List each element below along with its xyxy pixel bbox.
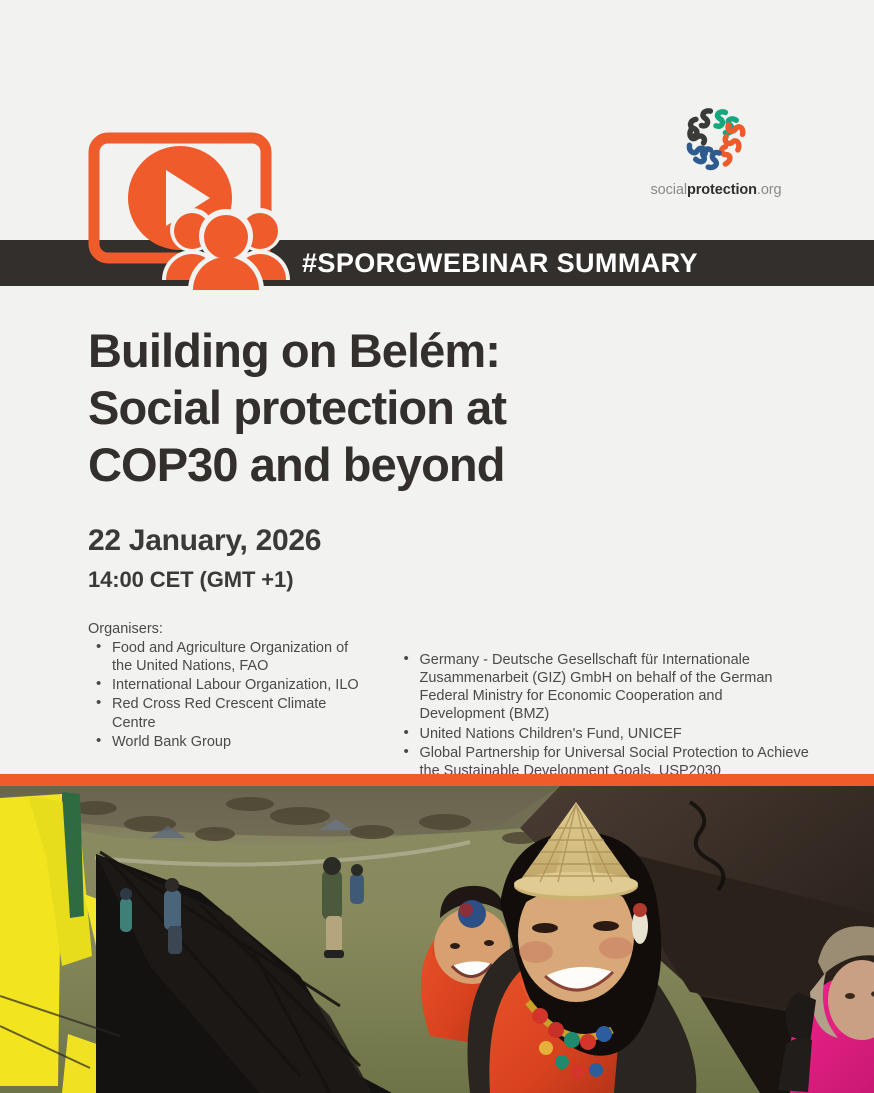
logo-word-org: .org <box>757 182 782 198</box>
logo-word-social: social <box>651 182 687 198</box>
socialprotection-org-logo[interactable]: socialprotection.org <box>636 100 796 198</box>
list-item: Red Cross Red Crescent Climate Centre <box>88 695 369 732</box>
organisers-list-left: Food and Agriculture Organization of the… <box>88 639 369 752</box>
event-time: 14:00 CET (GMT +1) <box>88 567 810 593</box>
socialprotection-wordmark: socialprotection.org <box>636 182 796 198</box>
header: socialprotection.org <box>0 0 874 240</box>
list-item: United Nations Children's Fund, UNICEF <box>395 725 810 743</box>
event-date: 22 January, 2026 <box>88 524 810 558</box>
socialprotection-pinwheel-mark <box>677 100 755 178</box>
webinar-play-people-icon <box>88 132 284 284</box>
page-title: Building on Belém: Social protection at … <box>88 323 810 494</box>
list-item: International Labour Organization, ILO <box>88 676 369 694</box>
band-title: #SPORGWEBINAR SUMMARY <box>302 248 698 279</box>
organisers-columns: Food and Agriculture Organization of the… <box>88 639 810 782</box>
organisers-list-right: Germany - Deutsche Gesellschaft für Inte… <box>395 651 810 781</box>
organisers-column-left: Food and Agriculture Organization of the… <box>88 639 369 782</box>
list-item: Food and Agriculture Organization of the… <box>88 639 369 676</box>
main-content: Building on Belém: Social protection at … <box>0 323 874 781</box>
flyer-page: socialprotection.org #SPORGWEBINAR SUMMA… <box>0 0 874 1093</box>
list-item: World Bank Group <box>88 733 369 751</box>
title-line-1: Building on Belém: <box>88 323 810 380</box>
title-line-2: Social protection at <box>88 380 810 437</box>
organisers-column-right: Germany - Deutsche Gesellschaft für Inte… <box>395 639 810 782</box>
logo-word-protection: protection <box>687 182 757 198</box>
cop30-community-photo: 13 CLIMATE ACTION <box>0 786 874 1093</box>
organisers-label: Organisers: <box>88 621 810 637</box>
title-line-3: COP30 and beyond <box>88 437 810 494</box>
list-item: Germany - Deutsche Gesellschaft für Inte… <box>395 651 810 724</box>
orange-divider <box>0 774 874 786</box>
